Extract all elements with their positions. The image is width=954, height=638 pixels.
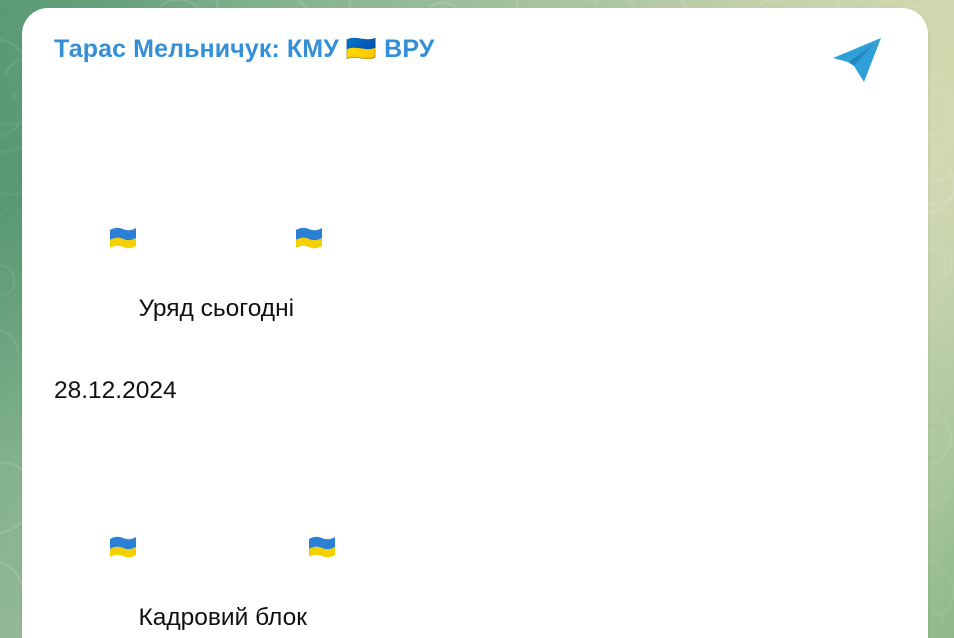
- ukraine-flag-icon: [307, 452, 337, 478]
- message-line-date: 28.12.2024: [54, 370, 894, 411]
- message-line-uryad-today: Уряд сьогодні: [54, 102, 894, 370]
- message-text-personnel-block: Кадровий блок: [138, 604, 307, 631]
- message-card[interactable]: Тарас Мельничук: КМУ 🇺🇦 ВРУ Уряд сьогодн…: [22, 8, 928, 638]
- message-header: Тарас Мельничук: КМУ 🇺🇦 ВРУ: [54, 34, 894, 84]
- ukraine-flag-icon: [294, 143, 324, 169]
- ukraine-flag-icon: [108, 143, 138, 169]
- channel-title[interactable]: Тарас Мельничук: КМУ 🇺🇦 ВРУ: [54, 34, 434, 65]
- message-body: Уряд сьогодні 28.12.2024 Кадровий блок: [54, 102, 894, 638]
- message-line-personnel-block: Кадровий блок: [54, 411, 894, 638]
- ukraine-flag-icon: [108, 452, 138, 478]
- telegram-plane-icon: [830, 36, 884, 84]
- message-text-uryad-today: Уряд сьогодні: [138, 295, 294, 322]
